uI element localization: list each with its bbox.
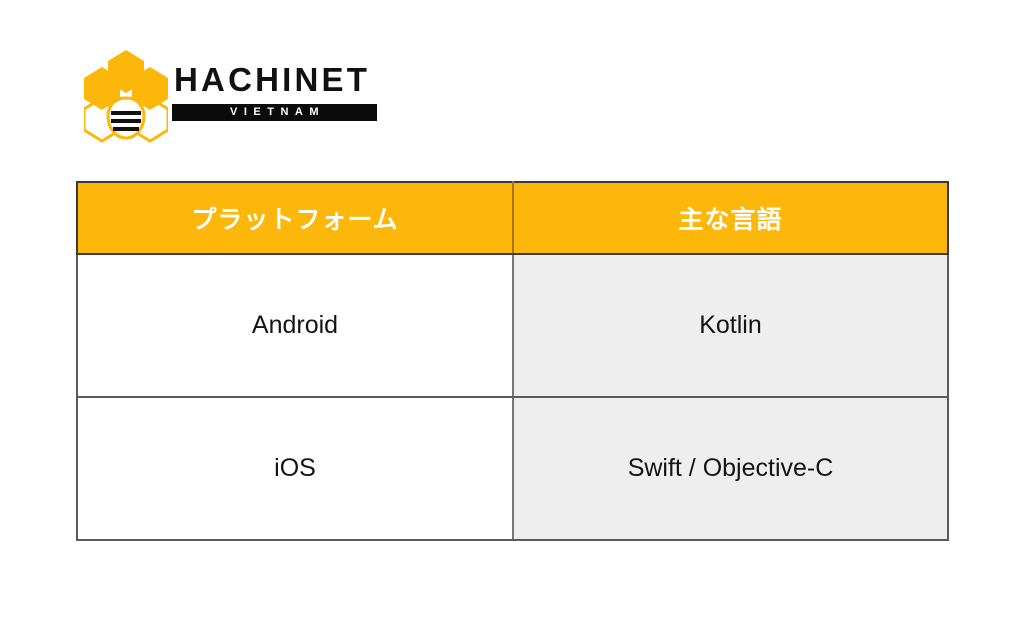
honeycomb-bee-icon [84,48,168,144]
cell-language: Kotlin [513,254,948,397]
logo-brand-name: HACHINET [172,61,384,99]
logo-wordmark: HACHINET VIETNAM [172,61,384,133]
cell-platform: Android [77,254,513,397]
table-row: iOS Swift / Objective-C [77,397,948,540]
column-header-language: 主な言語 [513,182,948,254]
logo-brand-subtitle: VIETNAM [224,107,325,118]
platform-language-table: プラットフォーム 主な言語 Android Kotlin iOS Swift /… [76,181,949,541]
cell-language: Swift / Objective-C [513,397,948,540]
cell-platform: iOS [77,397,513,540]
table-header: プラットフォーム 主な言語 [77,182,948,254]
column-header-platform: プラットフォーム [77,182,513,254]
table-header-row: プラットフォーム 主な言語 [77,182,948,254]
table-body: Android Kotlin iOS Swift / Objective-C [77,254,948,540]
table-row: Android Kotlin [77,254,948,397]
logo-subtitle-bar: VIETNAM [172,104,377,121]
hachinet-logo: HACHINET VIETNAM [84,48,384,144]
